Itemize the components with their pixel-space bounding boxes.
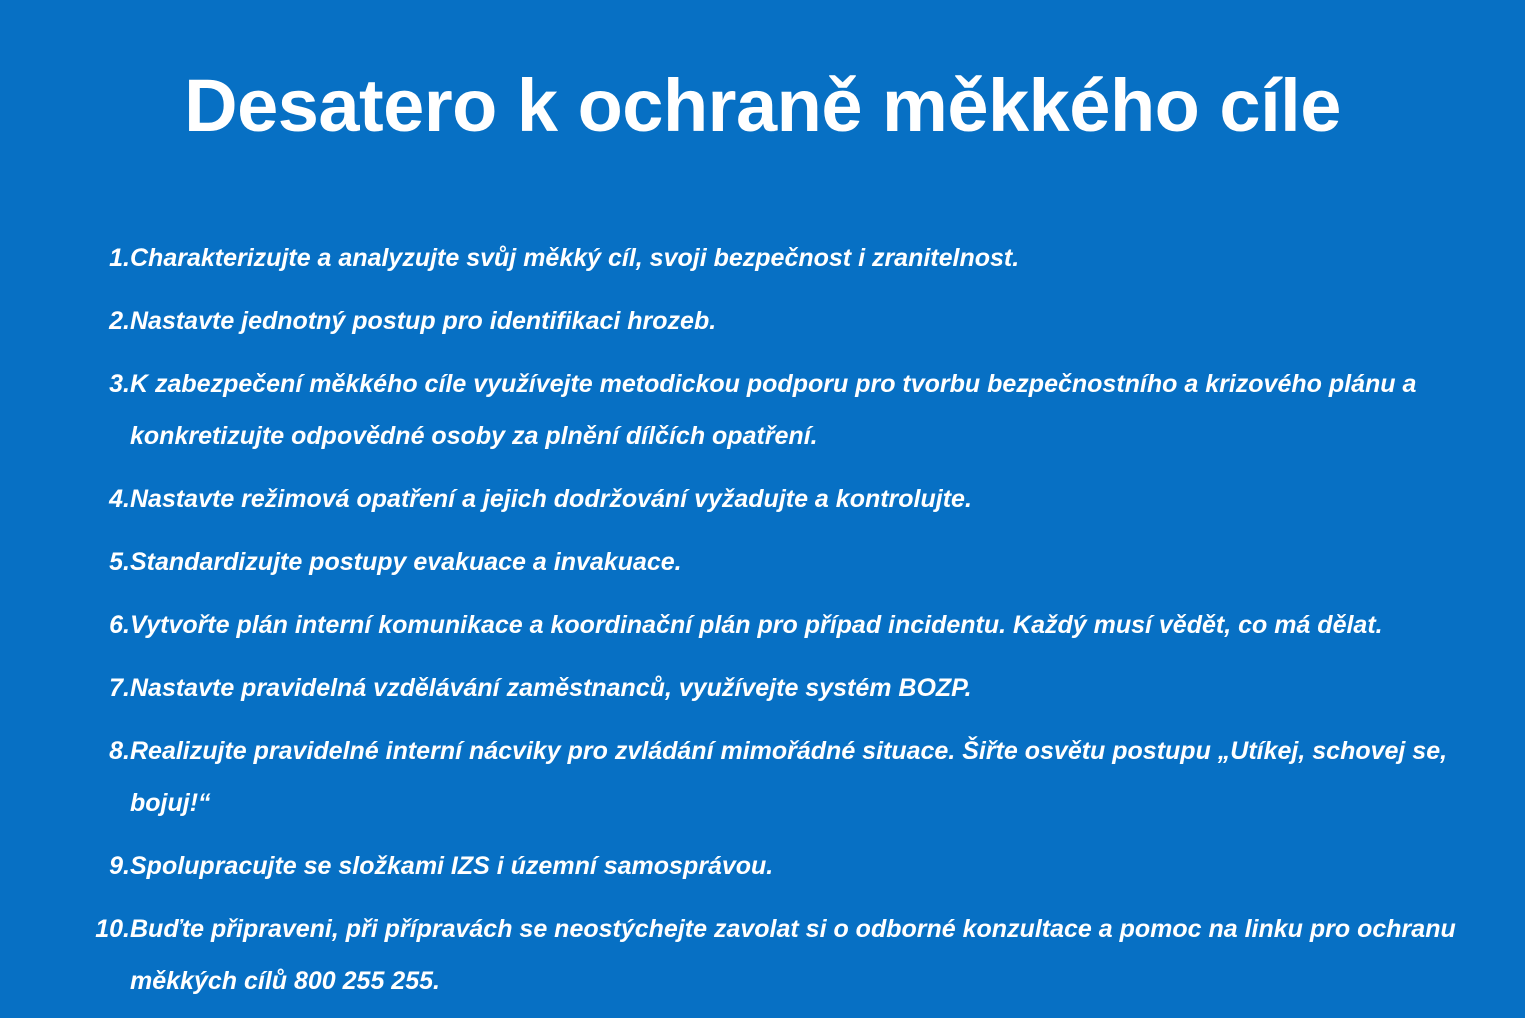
list-item-number: 2.	[78, 295, 130, 347]
list-item: 4. Nastavte režimová opatření a jejich d…	[78, 473, 1478, 525]
list-item: 8. Realizujte pravidelné interní nácviky…	[78, 725, 1478, 829]
list-item: 1. Charakterizujte a analyzujte svůj měk…	[78, 232, 1478, 284]
list-item-text: Realizujte pravidelné interní nácviky pr…	[130, 725, 1478, 829]
list-item-number: 6.	[78, 599, 130, 651]
list-item: 7. Nastavte pravidelná vzdělávání zaměst…	[78, 662, 1478, 714]
list-item-number: 1.	[78, 232, 130, 284]
list-item-number: 10.	[78, 903, 130, 955]
list-item-text: Vytvořte plán interní komunikace a koord…	[130, 599, 1478, 651]
list-item: 2. Nastavte jednotný postup pro identifi…	[78, 295, 1478, 347]
list-item-number: 7.	[78, 662, 130, 714]
page-title: Desatero k ochraně měkkého cíle	[0, 62, 1525, 150]
list-item-number: 4.	[78, 473, 130, 525]
list-item-text: Nastavte pravidelná vzdělávání zaměstnan…	[130, 662, 1478, 714]
list-item-number: 9.	[78, 840, 130, 892]
list-item: 9. Spolupracujte se složkami IZS i územn…	[78, 840, 1478, 892]
list-item-text: Charakterizujte a analyzujte svůj měkký …	[130, 232, 1478, 284]
list-item-text: Standardizujte postupy evakuace a invaku…	[130, 536, 1478, 588]
list-item: 3. K zabezpečení měkkého cíle využívejte…	[78, 358, 1478, 462]
list-item-text: Buďte připraveni, při přípravách se neos…	[130, 903, 1478, 1007]
list-item: 10. Buďte připraveni, při přípravách se …	[78, 903, 1478, 1007]
list-item-number: 3.	[78, 358, 130, 410]
desatero-list: 1. Charakterizujte a analyzujte svůj měk…	[78, 232, 1478, 1018]
list-item-text: Nastavte jednotný postup pro identifikac…	[130, 295, 1478, 347]
list-item-number: 8.	[78, 725, 130, 777]
list-item-number: 5.	[78, 536, 130, 588]
list-item: 5. Standardizujte postupy evakuace a inv…	[78, 536, 1478, 588]
list-item: 6. Vytvořte plán interní komunikace a ko…	[78, 599, 1478, 651]
list-item-text: K zabezpečení měkkého cíle využívejte me…	[130, 358, 1478, 462]
slide: Desatero k ochraně měkkého cíle 1. Chara…	[0, 0, 1525, 987]
list-item-text: Spolupracujte se složkami IZS i územní s…	[130, 840, 1478, 892]
list-item-text: Nastavte režimová opatření a jejich dodr…	[130, 473, 1478, 525]
